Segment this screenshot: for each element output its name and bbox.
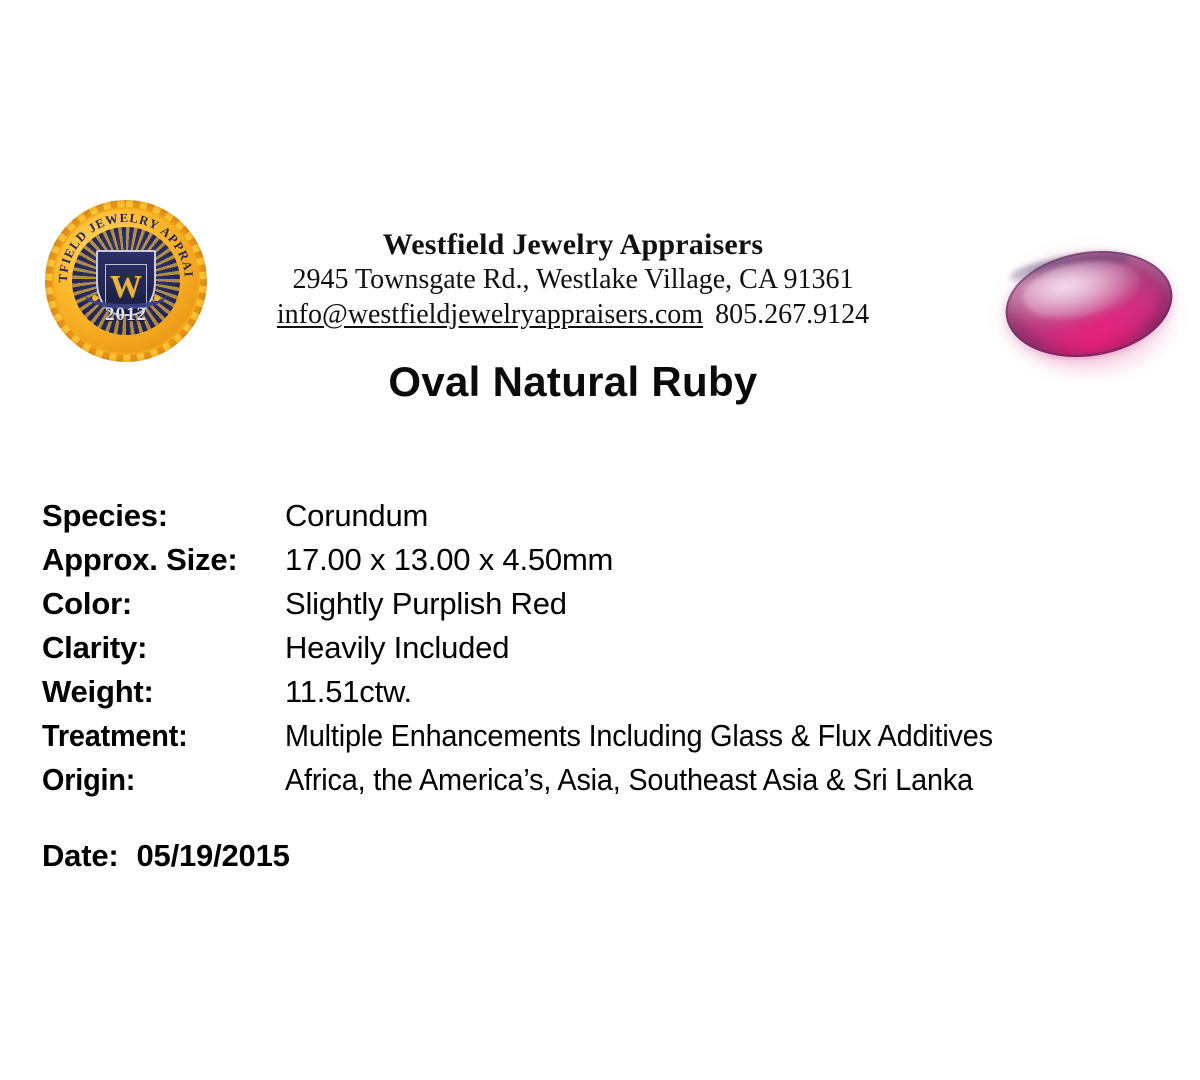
spec-label-clarity: Clarity: [42,630,285,666]
company-header: Westfield Jewelry Appraisers 2945 Townsg… [228,228,918,331]
spec-label-color: Color: [42,586,285,622]
spec-label-species: Species: [42,498,285,534]
spec-value-approx-size: 17.00 x 13.00 x 4.50mm [285,542,1157,578]
spec-value-treatment: Multiple Enhancements Including Glass & … [285,718,1096,754]
company-phone: 805.267.9124 [715,299,869,330]
table-row: Color: Slightly Purplish Red [42,586,1157,630]
spec-label-origin: Origin: [42,762,268,798]
appraisal-date: Date:05/19/2015 [42,838,290,874]
seal-inner-disc: W 2012 [72,227,180,335]
page-title: Oval Natural Ruby [228,358,918,406]
company-address: 2945 Townsgate Rd., Westlake Village, CA… [228,263,918,296]
appraisal-certificate: WESTFIELD JEWELRY APPRAISERS W 2012 West… [0,0,1200,1080]
table-row: Treatment: Multiple Enhancements Includi… [42,718,1157,762]
seal-year: 2012 [105,304,147,326]
table-row: Species: Corundum [42,498,1157,542]
spec-value-weight: 11.51ctw. [285,674,1157,710]
company-email-link[interactable]: info@westfieldjewelryappraisers.com [277,299,703,330]
spec-value-color: Slightly Purplish Red [285,586,1157,622]
seal-dot-right [154,295,160,301]
date-label: Date: [42,838,119,873]
spec-label-weight: Weight: [42,674,285,710]
company-contact-line: info@westfieldjewelryappraisers.com805.2… [228,298,918,331]
company-name: Westfield Jewelry Appraisers [228,228,918,262]
spec-label-treatment: Treatment: [42,718,268,754]
spec-value-origin: Africa, the America’s, Asia, Southeast A… [285,762,1096,798]
gem-specifications: Species: Corundum Approx. Size: 17.00 x … [42,498,1157,806]
spec-value-clarity: Heavily Included [285,630,1157,666]
table-row: Weight: 11.51ctw. [42,674,1157,718]
westfield-seal-icon: WESTFIELD JEWELRY APPRAISERS W 2012 [45,200,207,362]
table-row: Clarity: Heavily Included [42,630,1157,674]
seal-dot-left [92,295,98,301]
table-row: Approx. Size: 17.00 x 13.00 x 4.50mm [42,542,1157,586]
oval-ruby-cabochon-image [985,230,1190,395]
date-value: 05/19/2015 [137,838,290,873]
table-row: Origin: Africa, the America’s, Asia, Sou… [42,762,1157,806]
spec-value-species: Corundum [285,498,1157,534]
spec-label-approx-size: Approx. Size: [42,542,285,578]
